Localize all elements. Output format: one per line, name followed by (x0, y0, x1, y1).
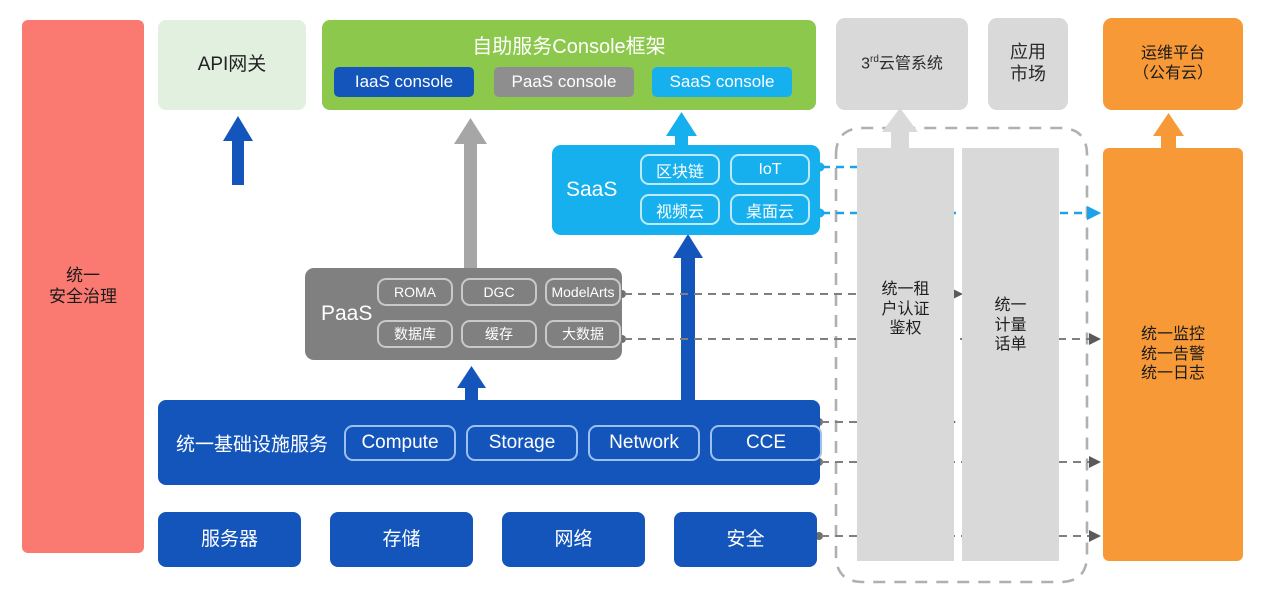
arrow-paas-to-console (454, 118, 487, 268)
paas-item-dgc[interactable]: DGC (461, 278, 537, 306)
shared-column-metering[interactable]: 统一 计量 话单 (962, 148, 1059, 561)
resource-item-security[interactable]: 安全 (674, 512, 817, 567)
paas-item-modelarts[interactable]: ModelArts (545, 278, 621, 306)
api-gateway-box[interactable]: API网关 (158, 20, 306, 110)
paas-panel-label: PaaS (321, 302, 372, 326)
console-frame-title: 自助服务Console框架 (322, 30, 816, 59)
arrow-infra-to-saas (673, 234, 703, 408)
third-party-cloud-mgmt-label: 3rd云管系统 (861, 54, 943, 74)
ops-platform-public-cloud-label: 运维平台 （公有云） (1133, 44, 1213, 83)
resource-item-network[interactable]: 网络 (502, 512, 645, 567)
saas-console-chip[interactable]: SaaS console (652, 67, 792, 97)
infra-item-network[interactable]: Network (588, 425, 700, 461)
shared-column-metering-label: 统一 计量 话单 (962, 296, 1059, 355)
saas-console-label: SaaS console (670, 72, 775, 92)
unified-security-governance-panel[interactable]: 统一 安全治理 (22, 20, 144, 553)
ops-platform-public-cloud-box[interactable]: 运维平台 （公有云） (1103, 18, 1243, 110)
infra-item-storage[interactable]: Storage (466, 425, 578, 461)
unified-infrastructure-label: 统一基础设施服务 (176, 429, 328, 456)
unified-infrastructure-bar[interactable]: 统一基础设施服务 Compute Storage Network CCE (158, 400, 820, 485)
unified-security-governance-label: 统一 安全治理 (49, 266, 117, 307)
shared-column-tenant-auth-label: 统一租 户认证 鉴权 (857, 280, 954, 339)
paas-panel[interactable]: PaaS ROMA DGC ModelArts 数据库 缓存 大数据 (305, 268, 622, 360)
paas-console-label: PaaS console (512, 72, 617, 92)
third-party-superscript: rd (870, 54, 879, 65)
saas-item-iot[interactable]: IoT (730, 154, 810, 185)
paas-item-database[interactable]: 数据库 (377, 320, 453, 348)
infra-item-compute[interactable]: Compute (344, 425, 456, 461)
saas-item-blockchain[interactable]: 区块链 (640, 154, 720, 185)
saas-item-desktop-cloud[interactable]: 桌面云 (730, 194, 810, 225)
resource-item-server[interactable]: 服务器 (158, 512, 301, 567)
arrow-gateway-up (223, 116, 253, 185)
arrow-shared-to-third-party (882, 108, 918, 150)
third-party-cloud-mgmt-box[interactable]: 3rd云管系统 (836, 18, 968, 110)
saas-panel-label: SaaS (566, 178, 617, 202)
ops-platform-side-label: 统一监控 统一告警 统一日志 (1141, 325, 1205, 384)
saas-item-video-cloud[interactable]: 视频云 (640, 194, 720, 225)
paas-item-cache[interactable]: 缓存 (461, 320, 537, 348)
third-party-prefix: 3 (861, 55, 870, 72)
resource-item-storage[interactable]: 存储 (330, 512, 473, 567)
paas-console-chip[interactable]: PaaS console (494, 67, 634, 97)
self-service-console-frame[interactable]: 自助服务Console框架 IaaS console PaaS console … (322, 20, 816, 110)
saas-panel[interactable]: SaaS 区块链 IoT 视频云 桌面云 (552, 145, 820, 235)
architecture-diagram: 统一 安全治理 API网关 自助服务Console框架 IaaS console… (0, 0, 1265, 605)
api-gateway-label: API网关 (198, 53, 267, 76)
arrow-ops-up (1153, 113, 1184, 150)
shared-column-tenant-auth[interactable]: 统一租 户认证 鉴权 (857, 148, 954, 561)
iaas-console-label: IaaS console (355, 72, 453, 92)
app-market-label: 应用 市场 (1010, 42, 1046, 86)
ops-platform-side-panel[interactable]: 统一监控 统一告警 统一日志 (1103, 148, 1243, 561)
iaas-console-chip[interactable]: IaaS console (334, 67, 474, 97)
third-party-rest: 云管系统 (879, 55, 943, 72)
infra-item-cce[interactable]: CCE (710, 425, 822, 461)
paas-item-bigdata[interactable]: 大数据 (545, 320, 621, 348)
paas-item-roma[interactable]: ROMA (377, 278, 453, 306)
app-market-box[interactable]: 应用 市场 (988, 18, 1068, 110)
